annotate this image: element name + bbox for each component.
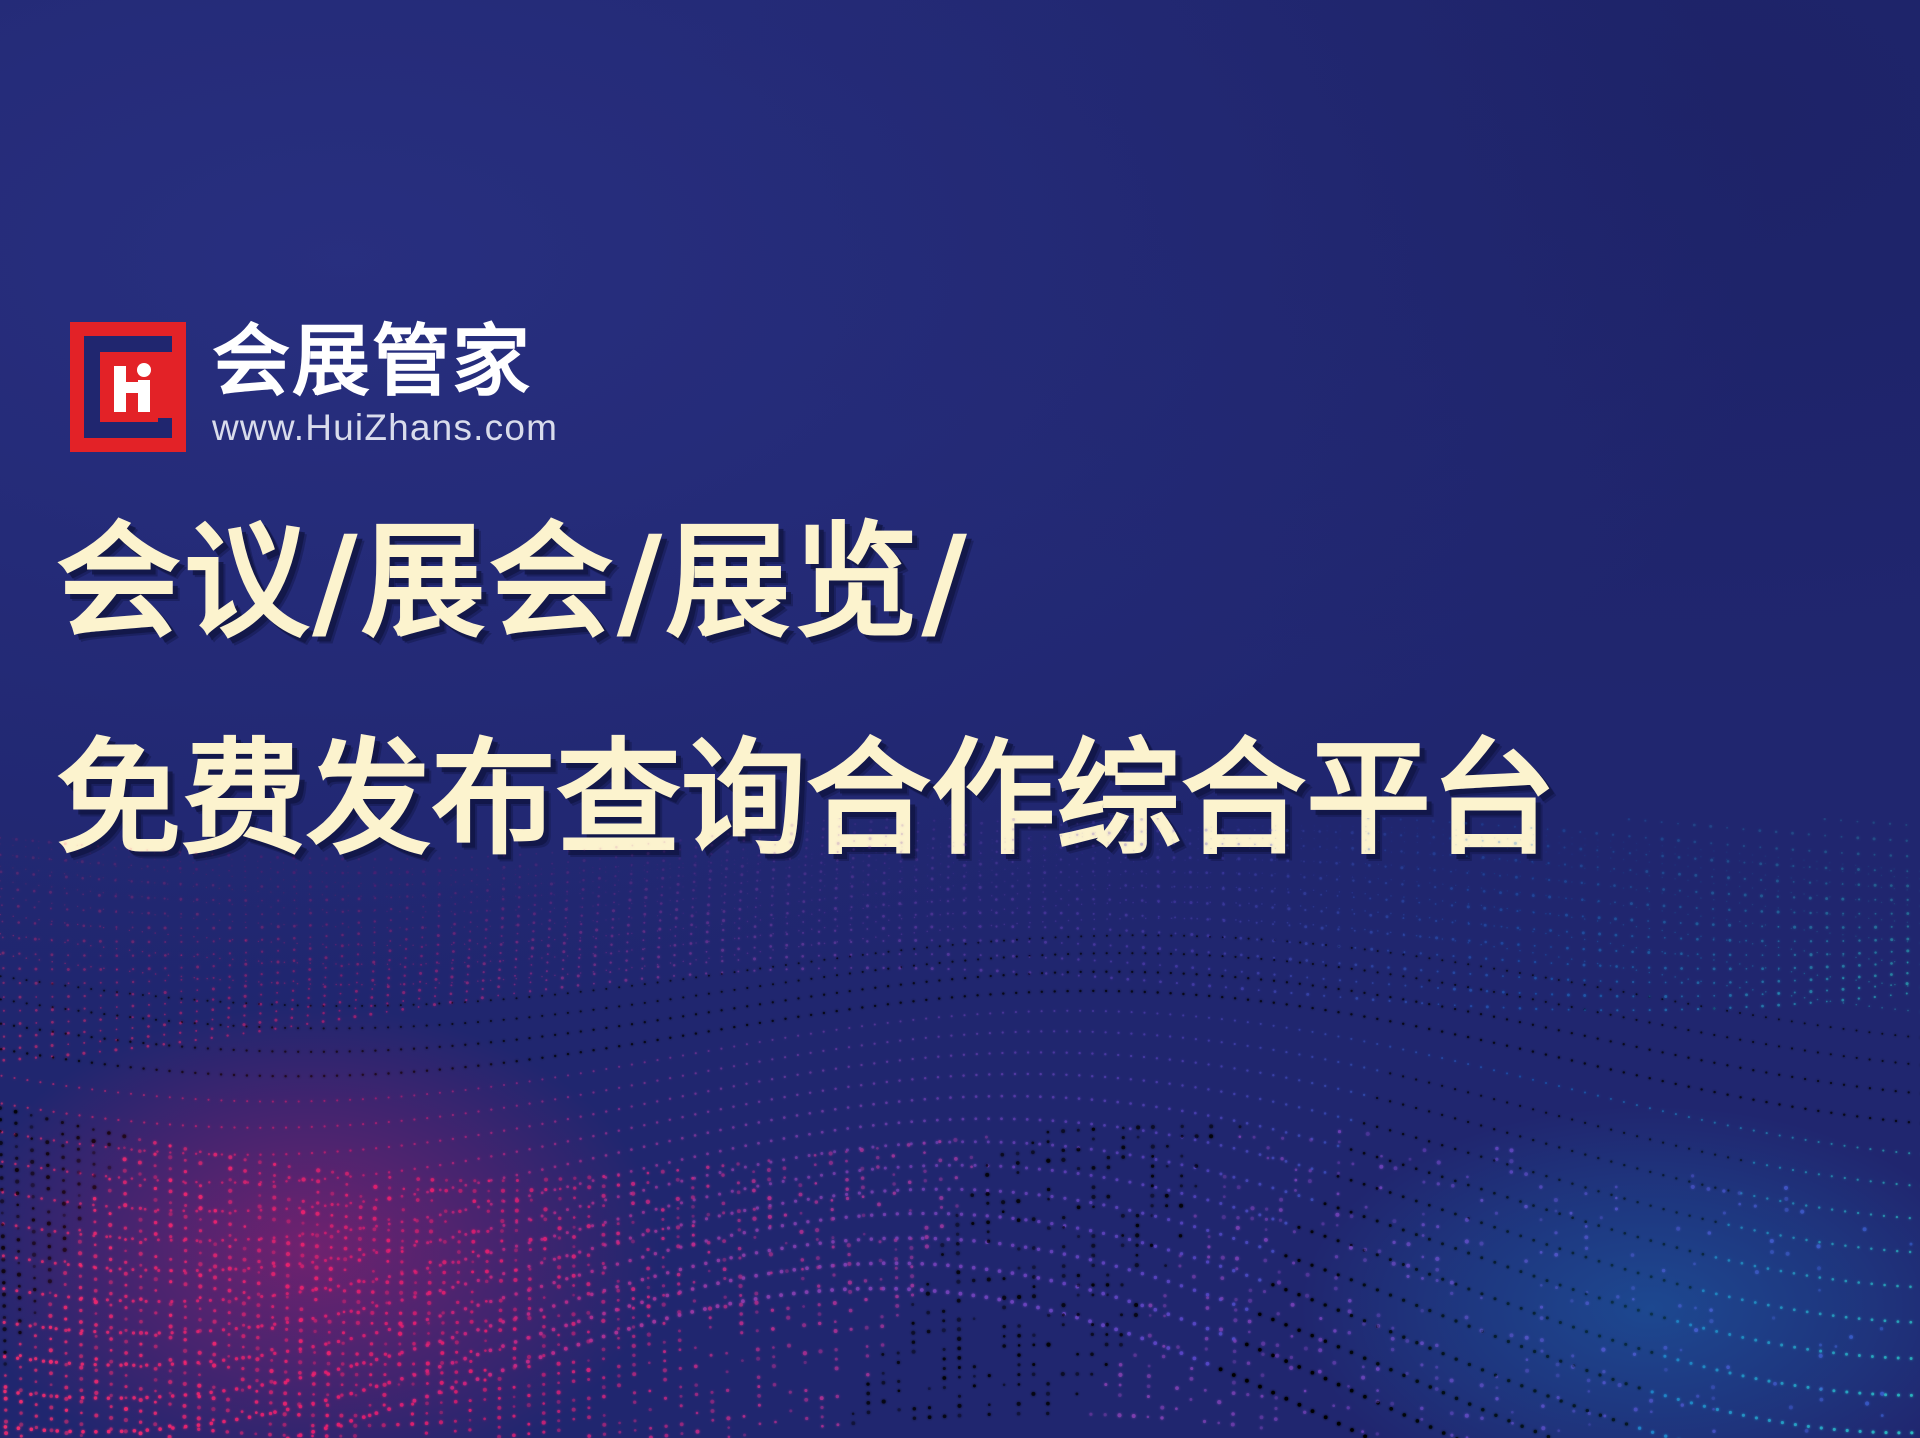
huizhans-hi-monogram-icon [70,322,186,452]
brand-logo-lockup[interactable]: 会展管家 www.HuiZhans.com [70,322,558,452]
poster-canvas: 会展管家 www.HuiZhans.com 会议/展会/展览/ 免费发布查询合作… [0,0,1920,1438]
brand-text-block: 会展管家 www.HuiZhans.com [212,322,558,449]
headline-block: 会议/展会/展览/ 免费发布查询合作综合平台 [56,520,1856,862]
particle-wave-graphic [0,818,1920,1438]
brand-website-url[interactable]: www.HuiZhans.com [212,407,558,449]
brand-name: 会展管家 [212,326,558,399]
headline-line-1: 会议/展会/展览/ [56,520,1856,645]
